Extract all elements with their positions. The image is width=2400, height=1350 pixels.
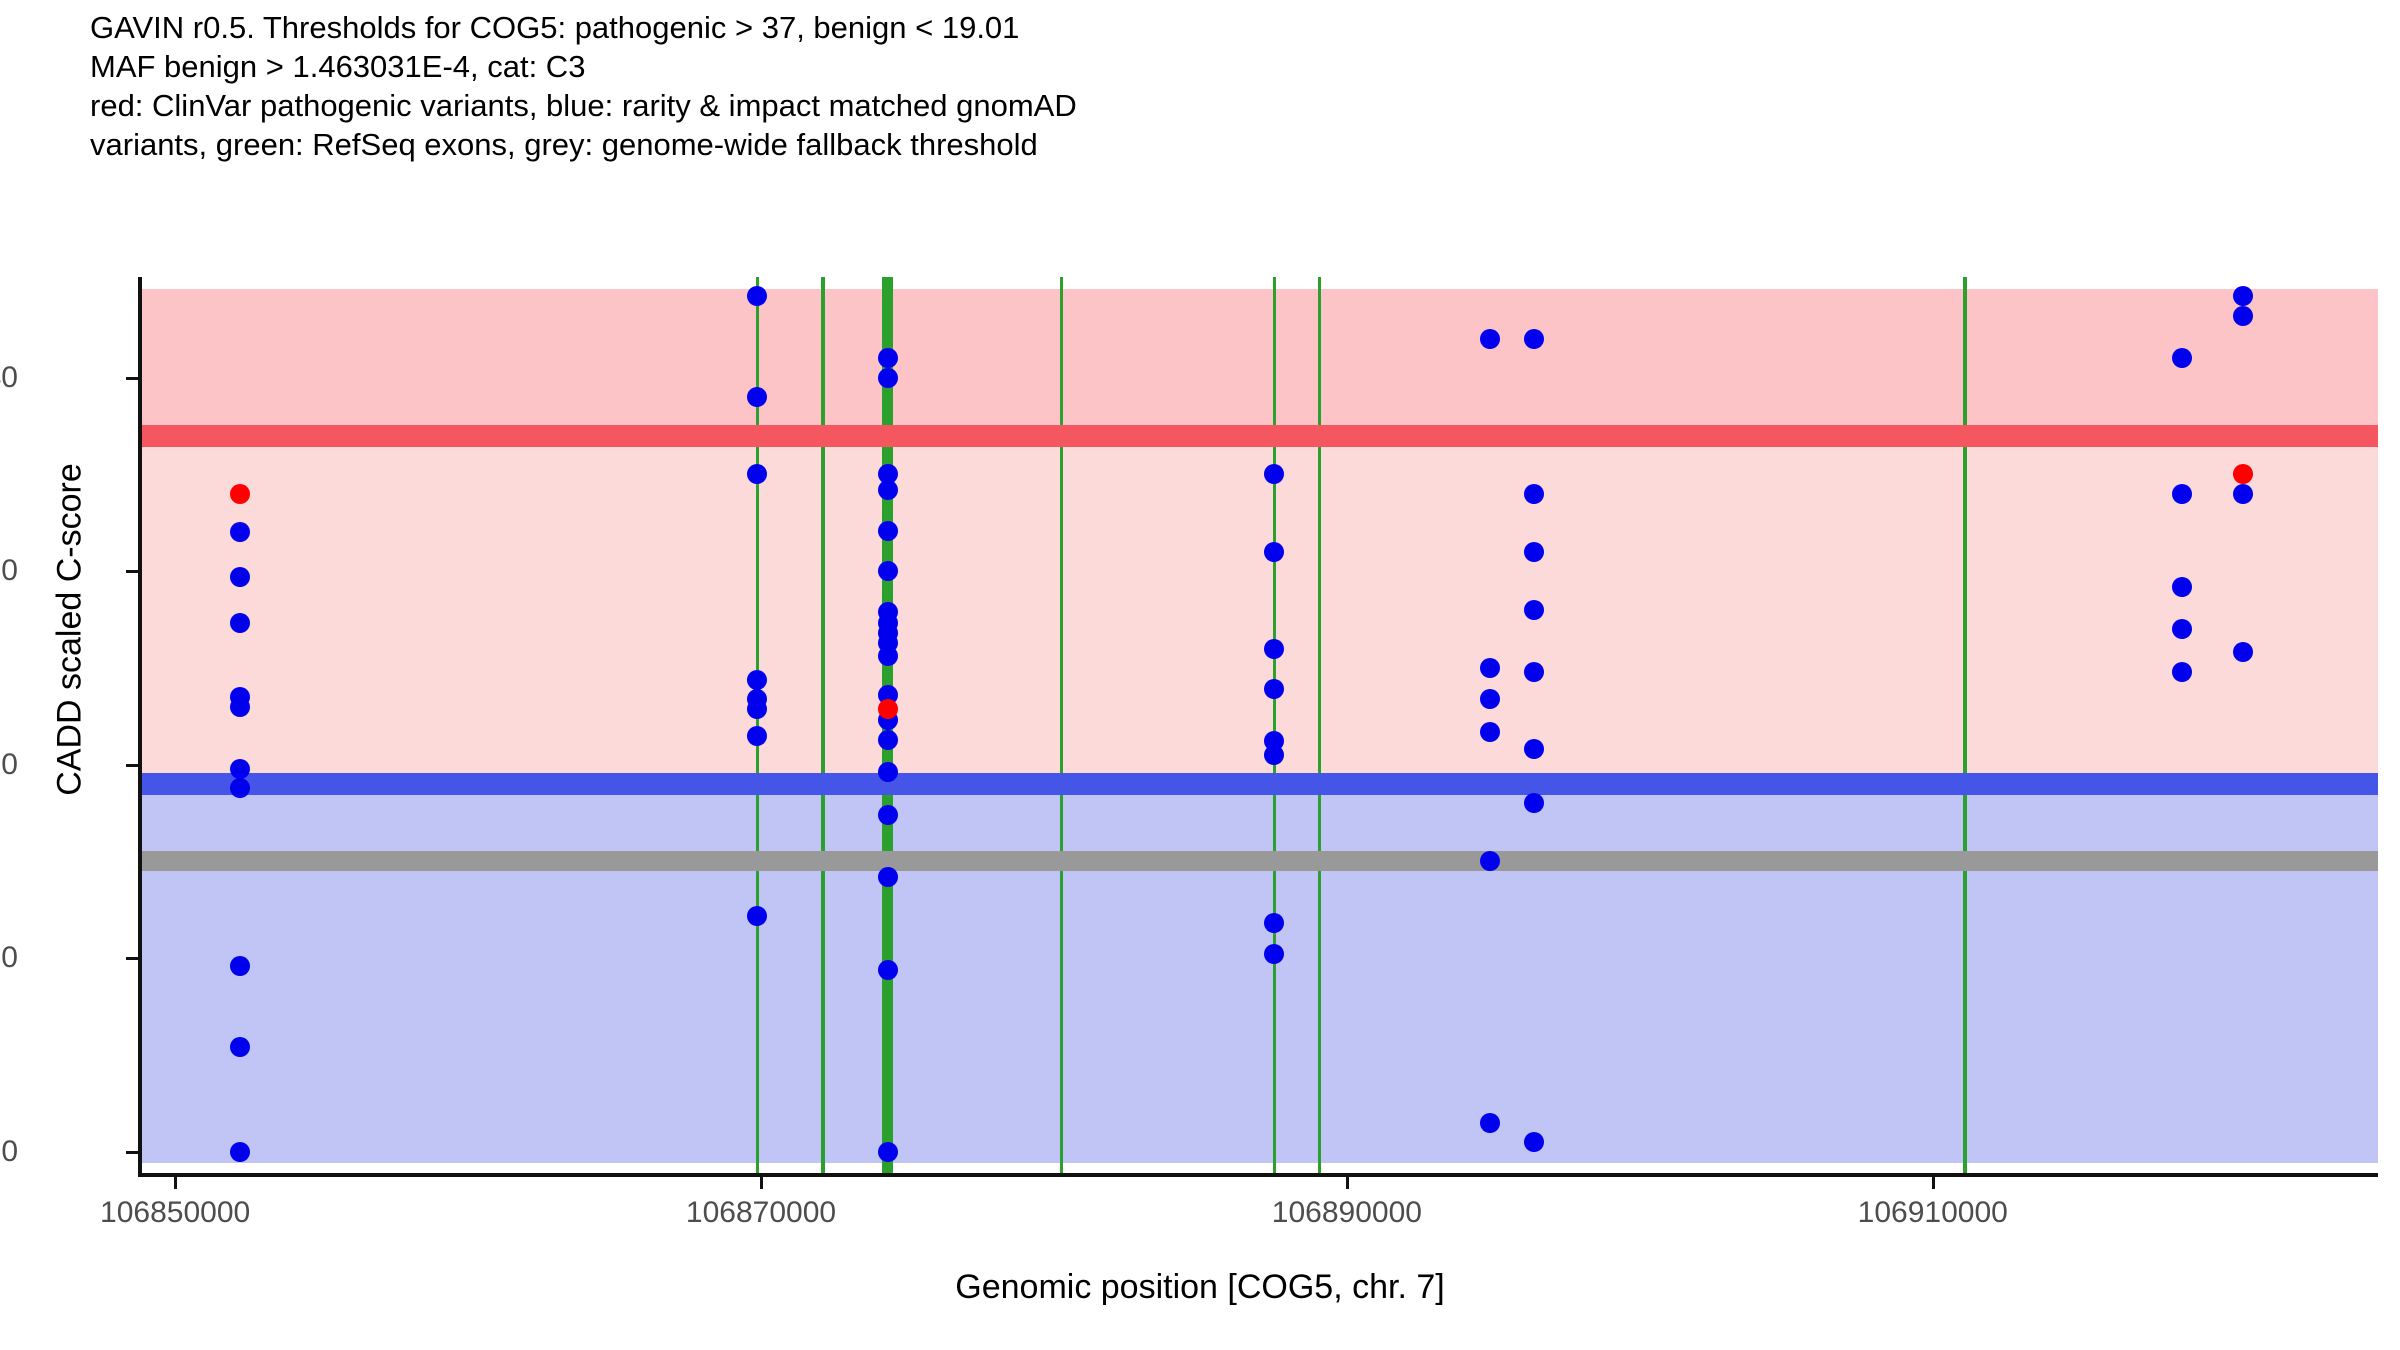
gnomad-variant-point xyxy=(1264,542,1284,562)
gnomad-variant-point xyxy=(2172,577,2192,597)
gnomad-variant-point xyxy=(878,1142,898,1162)
y-tick-label: 10 xyxy=(0,941,18,975)
title-line-1: GAVIN r0.5. Thresholds for COG5: pathoge… xyxy=(90,8,2090,47)
x-tick-label: 106910000 xyxy=(1858,1196,2008,1230)
x-tick-mark xyxy=(760,1177,763,1189)
gnomad-variant-point xyxy=(878,348,898,368)
exon-line xyxy=(1318,277,1321,1175)
x-tick-mark xyxy=(1932,1177,1935,1189)
y-axis-label: CADD scaled C-score xyxy=(51,230,90,1030)
gnomad-variant-point xyxy=(878,368,898,388)
y-tick-label: 20 xyxy=(0,748,18,782)
pathogenic-threshold-line xyxy=(140,425,2378,447)
gnomad-variant-point xyxy=(230,956,250,976)
title-line-4: variants, green: RefSeq exons, grey: gen… xyxy=(90,125,2090,164)
x-axis-line xyxy=(138,1173,2378,1177)
y-tick-mark xyxy=(126,377,138,380)
gnomad-variant-point xyxy=(230,1142,250,1162)
x-tick-label: 106850000 xyxy=(100,1196,250,1230)
exon-line xyxy=(821,277,825,1175)
y-tick-mark xyxy=(126,957,138,960)
gnomad-variant-point xyxy=(230,567,250,587)
vous-band xyxy=(140,436,2378,784)
gnomad-variant-point xyxy=(747,906,767,926)
gnomad-variant-point xyxy=(230,1037,250,1057)
benign-band xyxy=(140,784,2378,1164)
gnomad-variant-point xyxy=(230,613,250,633)
gnomad-variant-point xyxy=(747,699,767,719)
gnomad-variant-point xyxy=(747,670,767,690)
gnomad-variant-point xyxy=(1524,484,1544,504)
clinvar-variant-point xyxy=(878,699,898,719)
gnomad-variant-point xyxy=(878,960,898,980)
chart-root: GAVIN r0.5. Thresholds for COG5: pathoge… xyxy=(0,0,2400,1350)
gnomad-variant-point xyxy=(230,697,250,717)
x-axis-label: Genomic position [COG5, chr. 7] xyxy=(0,1268,2400,1307)
gnomad-variant-point xyxy=(878,521,898,541)
gnomad-variant-point xyxy=(2172,619,2192,639)
title-line-2: MAF benign > 1.463031E-4, cat: C3 xyxy=(90,47,2090,86)
gnomad-variant-point xyxy=(2172,484,2192,504)
y-tick-label: 30 xyxy=(0,554,18,588)
benign-threshold-line xyxy=(140,773,2378,795)
chart-title-block: GAVIN r0.5. Thresholds for COG5: pathoge… xyxy=(90,8,2090,164)
plot-panel xyxy=(140,277,2378,1175)
fallback-threshold-line xyxy=(140,851,2378,871)
x-tick-label: 106870000 xyxy=(686,1196,836,1230)
gnomad-variant-point xyxy=(2172,662,2192,682)
y-tick-mark xyxy=(126,570,138,573)
gnomad-variant-point xyxy=(230,522,250,542)
pathogenic-band xyxy=(140,289,2378,436)
y-tick-mark xyxy=(126,1151,138,1154)
gnomad-variant-point xyxy=(1264,639,1284,659)
gnomad-variant-point xyxy=(2233,306,2253,326)
gnomad-variant-point xyxy=(2172,348,2192,368)
y-axis-line xyxy=(138,277,142,1175)
gnomad-variant-point xyxy=(878,805,898,825)
gnomad-variant-point xyxy=(230,759,250,779)
x-tick-mark xyxy=(1346,1177,1349,1189)
clinvar-variant-point xyxy=(230,484,250,504)
gnomad-variant-point xyxy=(747,726,767,746)
exon-line xyxy=(1963,277,1967,1175)
exon-line xyxy=(1273,277,1276,1175)
exon-line xyxy=(1060,277,1063,1175)
gnomad-variant-point xyxy=(230,778,250,798)
gnomad-variant-point xyxy=(878,867,898,887)
y-tick-mark xyxy=(126,764,138,767)
gnomad-variant-point xyxy=(878,480,898,500)
gnomad-variant-point xyxy=(2233,484,2253,504)
y-tick-label: 40 xyxy=(0,361,18,395)
gnomad-variant-point xyxy=(878,730,898,750)
title-line-3: red: ClinVar pathogenic variants, blue: … xyxy=(90,86,2090,125)
x-tick-label: 106890000 xyxy=(1272,1196,1422,1230)
x-tick-mark xyxy=(174,1177,177,1189)
gnomad-variant-point xyxy=(878,561,898,581)
y-tick-label: 0 xyxy=(1,1135,18,1169)
